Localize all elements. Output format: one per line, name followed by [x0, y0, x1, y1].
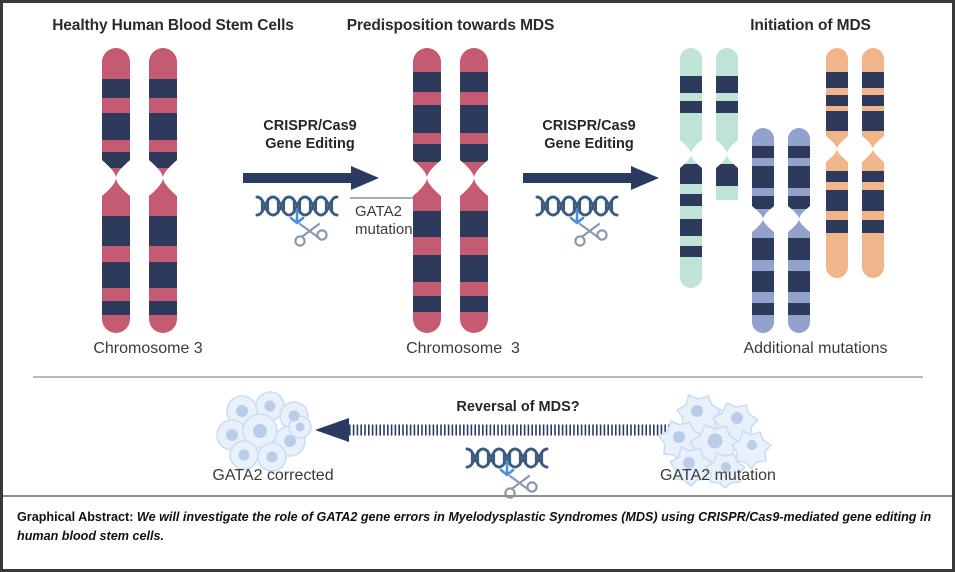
gata2-callout-line: [350, 196, 418, 200]
arrow-right-2: [523, 166, 659, 190]
caption-text: Graphical Abstract: We will investigate …: [17, 508, 938, 546]
caption-lead: Graphical Abstract:: [17, 510, 137, 524]
label-additional-mutations: Additional mutations: [693, 340, 938, 358]
arrow-label-crispr-2: CRISPR/Cas9 Gene Editing: [515, 118, 663, 153]
chromatid-right: [149, 48, 177, 333]
label-chromosome-left: Chromosome 3: [63, 340, 233, 358]
label-gata2-mutation: GATA2 mutation: [623, 467, 813, 485]
arrow-label-reversal: Reversal of MDS?: [398, 399, 638, 417]
chromatid-left: [752, 128, 774, 333]
caption-body: We will investigate the role of GATA2 ge…: [17, 510, 931, 543]
cell-cluster-mutated-icon: [653, 391, 773, 476]
panel-title-left: Healthy Human Blood Stem Cells: [13, 17, 333, 35]
chromatid-right: [862, 48, 884, 278]
label-gata2-corrected: GATA2 corrected: [183, 467, 363, 485]
chromosome-pair-healthy: [102, 48, 192, 333]
chromatid-right: [788, 128, 810, 333]
panel-title-middle: Predisposition towards MDS: [308, 17, 593, 35]
chromosome-pair-mint: [680, 48, 750, 288]
arrow-label-crispr-1: CRISPR/Cas9 Gene Editing: [236, 118, 384, 153]
crispr-dna-scissors-icon-2: [533, 191, 641, 259]
chromatid-left-full: [680, 48, 702, 288]
chromosome-pair-peach: [826, 48, 896, 278]
chromosome-pair-predisposition: [413, 48, 503, 333]
chromatid-left: [413, 48, 441, 333]
section-divider: [33, 376, 923, 378]
caption-box: Graphical Abstract: We will investigate …: [3, 495, 952, 569]
panel-title-right: Initiation of MDS: [683, 17, 938, 35]
chromatid-left: [826, 48, 848, 278]
arrow-right-1: [243, 166, 379, 190]
crispr-dna-scissors-icon-1: [253, 191, 361, 259]
chromosome-pair-periwinkle: [752, 128, 822, 333]
arrow-left-reversal: [315, 418, 695, 442]
chromatid-right: [460, 48, 488, 333]
cell-cluster-corrected-icon: [212, 391, 322, 473]
chromatid-right-truncated: [716, 48, 738, 288]
graphical-abstract-figure: Healthy Human Blood Stem Cells Predispos…: [0, 0, 955, 572]
chromatid-left: [102, 48, 130, 333]
label-chromosome-middle: Chromosome 3: [373, 340, 553, 358]
